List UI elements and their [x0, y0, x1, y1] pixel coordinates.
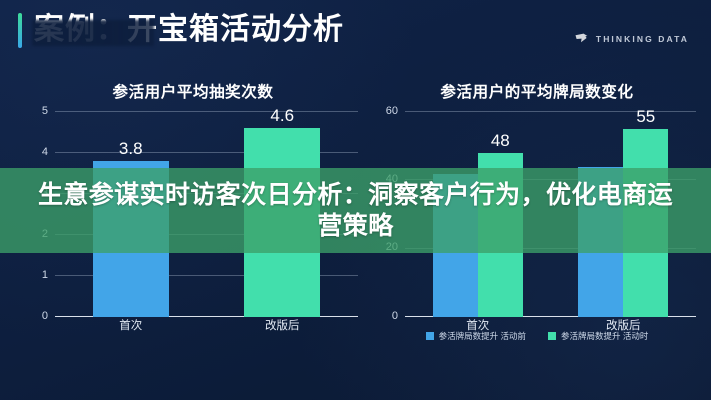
bar-value-label: 3.8 — [119, 139, 143, 159]
y-axis-tick-label: 0 — [28, 310, 48, 322]
chart-legend: 参活牌局数提升 活动前参活牌局数提升 活动时 — [378, 330, 696, 342]
chart-title-right: 参活用户的平均牌局数变化 — [378, 80, 696, 102]
thinkingdata-logo-icon — [575, 30, 588, 48]
overlay-banner: 生意参谋实时访客次日分析：洞察客户行为，优化电商运营策略 — [0, 168, 711, 253]
legend-item[interactable]: 参活牌局数提升 活动时 — [548, 330, 648, 342]
x-axis-label: 首次 — [119, 317, 142, 333]
legend-item[interactable]: 参活牌局数提升 活动前 — [426, 330, 526, 342]
bar-value-label: 55 — [636, 107, 655, 127]
bar-value-label: 48 — [491, 131, 510, 151]
y-axis-tick-label: 5 — [28, 105, 48, 117]
chart-title-left: 参活用户平均抽奖次数 — [28, 80, 358, 102]
y-axis-tick-label: 0 — [378, 310, 398, 322]
bar-value-label: 4.6 — [270, 106, 294, 126]
brand-name: THINKING DATA — [596, 34, 689, 44]
legend-swatch-icon — [548, 332, 556, 340]
brand-logo: THINKING DATA — [575, 30, 689, 48]
legend-swatch-icon — [426, 332, 434, 340]
x-axis-label: 改版后 — [265, 317, 300, 333]
slide-canvas: 案例：开宝箱活动分析 THINKING DATA 参活用户平均抽奖次数 0123… — [0, 0, 711, 400]
y-axis-tick-label: 4 — [28, 146, 48, 158]
legend-label: 参活牌局数提升 活动前 — [439, 330, 526, 342]
title-occlusion-overlay — [32, 20, 154, 46]
legend-label: 参活牌局数提升 活动时 — [561, 330, 648, 342]
y-axis-tick-label: 60 — [378, 105, 398, 117]
accent-bar-icon — [18, 13, 22, 48]
overlay-banner-text: 生意参谋实时访客次日分析：洞察客户行为，优化电商运营策略 — [26, 180, 686, 242]
y-axis-tick-label: 1 — [28, 269, 48, 281]
